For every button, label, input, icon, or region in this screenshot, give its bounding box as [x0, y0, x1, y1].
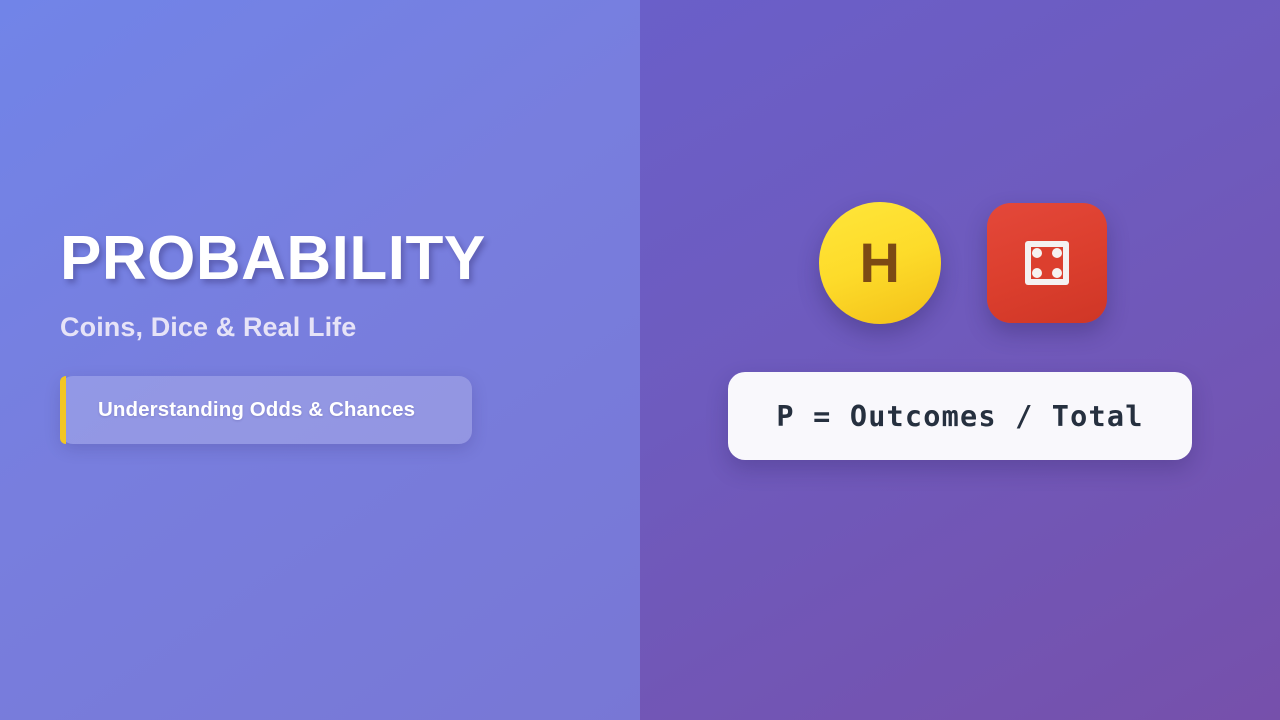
dice-icon: [987, 203, 1107, 323]
formula-card: P = Outcomes / Total: [728, 372, 1192, 460]
die-pip-top-right: [1052, 248, 1062, 258]
die-pip-bottom-left: [1032, 268, 1042, 278]
page-subtitle: Coins, Dice & Real Life: [60, 312, 600, 343]
coin-face-letter: H: [860, 235, 901, 291]
die-face: [1025, 241, 1069, 285]
probability-formula: P = Outcomes / Total: [776, 400, 1143, 433]
right-panel: H P = Outcomes / Total: [640, 0, 1280, 720]
page-title: PROBABILITY: [60, 228, 600, 290]
left-panel: PROBABILITY Coins, Dice & Real Life Unde…: [0, 0, 640, 720]
die-inner-field: [1031, 247, 1063, 279]
status-badge-label: Understanding Odds & Chances: [60, 398, 415, 422]
die-pip-top-left: [1032, 248, 1042, 258]
presentation-slide: PROBABILITY Coins, Dice & Real Life Unde…: [0, 0, 1280, 720]
status-badge[interactable]: Understanding Odds & Chances: [60, 376, 472, 444]
icon-row: H: [819, 202, 1107, 324]
die-pip-bottom-right: [1052, 268, 1062, 278]
coin-icon: H: [819, 202, 941, 324]
badge-accent-bar: [60, 376, 66, 444]
